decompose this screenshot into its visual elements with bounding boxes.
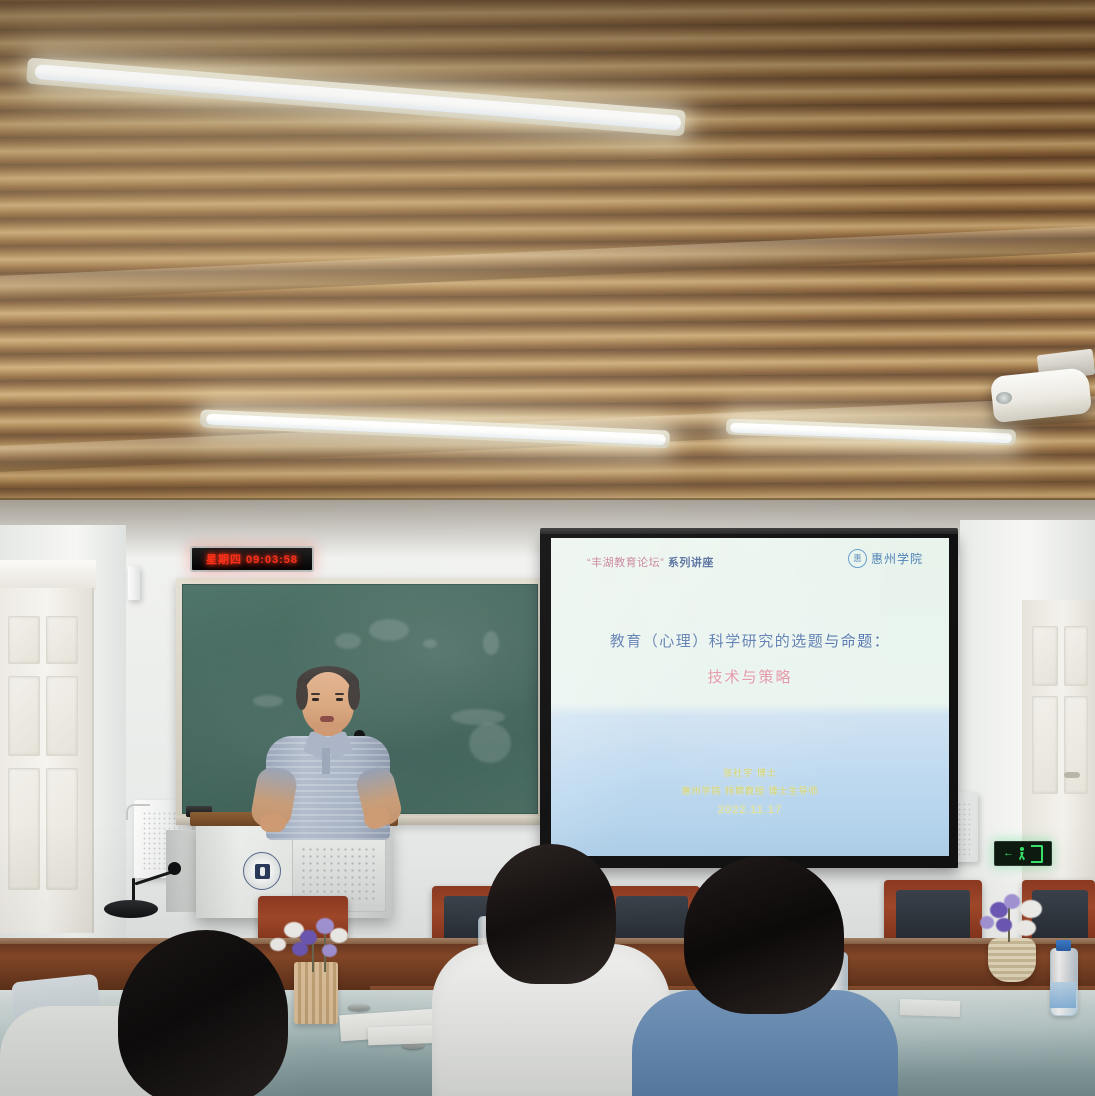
lecture-hall-photo: ← 星期四 09:03:58 “丰湖教育论坛” 系列讲座 惠 惠州学院 教育（心… <box>0 0 1095 1096</box>
podium-speaker-grille <box>300 846 376 902</box>
running-person-icon <box>1017 847 1028 861</box>
floor-microphone-head-icon <box>168 862 181 875</box>
flower-bloom <box>292 942 308 956</box>
slide-kicker-quote: “丰湖教育论坛” <box>587 557 664 569</box>
slide-subtitle: 技术与策略 <box>551 666 949 687</box>
university-name: 惠州学院 <box>871 550 923 567</box>
chair-backrest-pad <box>896 890 970 942</box>
audience-center-hair <box>486 844 616 984</box>
flower-bloom <box>980 916 994 929</box>
slide-title: 教育（心理）科学研究的选题与命题： <box>551 630 949 651</box>
projection-screen: “丰湖教育论坛” 系列讲座 惠 惠州学院 教育（心理）科学研究的选题与命题： 技… <box>551 538 949 856</box>
door-panel <box>1064 696 1088 794</box>
flower-bloom <box>322 944 337 957</box>
door-panel <box>1032 696 1058 794</box>
slide-presenter-affiliation: 惠州学院 特聘教授 博士生导师 <box>551 784 949 797</box>
bottle-cap <box>1056 940 1071 951</box>
flower-bloom <box>330 928 348 943</box>
chalk-smudge <box>483 631 499 655</box>
exit-door-icon <box>1031 845 1043 863</box>
university-seal-icon: 惠 <box>848 549 867 568</box>
presenter-eyebrow <box>335 693 344 695</box>
wicker-basket-vase <box>988 938 1036 982</box>
door-panel <box>1032 626 1058 686</box>
flower-bloom <box>1004 894 1020 909</box>
bottle-label <box>1050 982 1076 1008</box>
door-left[interactable] <box>0 588 94 933</box>
flower-bloom <box>270 938 286 951</box>
table-cable-grommet <box>348 1004 370 1011</box>
slide-kicker: “丰湖教育论坛” 系列讲座 <box>587 554 714 570</box>
led-time-text: 星期四 09:03:58 <box>206 551 298 567</box>
presenter-hair-side <box>348 680 360 710</box>
door-panel <box>1064 626 1088 686</box>
chalk-smudge <box>451 709 505 725</box>
chair-backrest-pad <box>1032 890 1088 942</box>
wooden-slat-vase <box>294 962 338 1024</box>
slide-kicker-rest: 系列讲座 <box>668 557 714 569</box>
wall-fitting <box>128 566 140 600</box>
door-frame <box>0 560 96 590</box>
presenter-eye <box>336 698 343 701</box>
flower-bloom <box>1016 920 1036 936</box>
paper-sheet[interactable] <box>900 999 961 1017</box>
presenter-eyebrow <box>311 693 320 695</box>
emergency-exit-sign: ← <box>994 841 1052 866</box>
chalk-smudge <box>335 633 361 649</box>
audience-right-hair <box>684 856 844 1014</box>
slide-university-logo: 惠 惠州学院 <box>848 549 923 568</box>
door-panel <box>46 768 78 890</box>
podium-university-emblem-icon <box>243 852 281 890</box>
chalk-smudge <box>369 619 409 641</box>
led-time-display: 星期四 09:03:58 <box>190 546 314 572</box>
door-handle-icon[interactable] <box>1064 772 1080 778</box>
door-panel <box>8 676 40 756</box>
flower-bloom <box>1020 900 1042 918</box>
emblem-inner-mark <box>255 864 270 879</box>
presenter-shirt-placket <box>322 748 330 774</box>
exit-arrow-icon: ← <box>1003 848 1014 859</box>
presenter-hair-side <box>296 680 308 710</box>
door-panel <box>46 676 78 756</box>
chalk-smudge <box>423 639 437 648</box>
chalk-smudge <box>469 723 511 763</box>
door-panel <box>46 616 78 664</box>
presenter-eye <box>312 698 319 701</box>
presenter-left-hand <box>260 814 286 832</box>
slide-presenter-name: 张社字 博士 <box>551 766 949 779</box>
door-panel <box>8 768 40 890</box>
presenter-person <box>252 672 402 832</box>
slide-date: 2022.11.17 <box>551 804 949 816</box>
presenter-head <box>302 672 354 734</box>
flower-bloom <box>996 918 1012 932</box>
presenter-mouth <box>320 716 334 722</box>
floor-mic-base <box>104 900 158 918</box>
door-panel <box>8 616 40 664</box>
